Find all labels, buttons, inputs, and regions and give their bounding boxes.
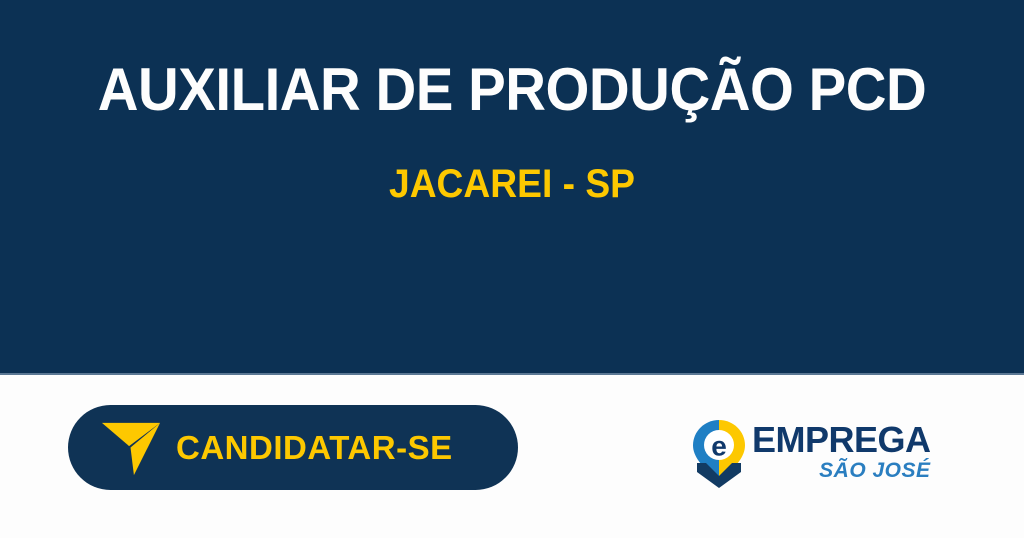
map-pin-e-icon: e (692, 419, 746, 489)
paper-plane-icon (100, 417, 162, 479)
svg-text:e: e (711, 431, 727, 462)
job-title: AUXILIAR DE PRODUÇÃO PCD (31, 57, 994, 123)
hero-banner: AUXILIAR DE PRODUÇÃO PCD JACAREI - SP (0, 0, 1024, 375)
brand-wordmark: EMPREGA SÃO JOSÉ (752, 419, 931, 483)
job-location: JACAREI - SP (36, 160, 988, 208)
job-vacancy-card: AUXILIAR DE PRODUÇÃO PCD JACAREI - SP CA… (0, 0, 1024, 538)
apply-button-label: CANDIDATAR-SE (176, 431, 453, 464)
apply-button[interactable]: CANDIDATAR-SE (68, 405, 518, 490)
brand-name: EMPREGA (752, 422, 931, 458)
brand-city: SÃO JOSÉ (819, 459, 930, 483)
brand-logo: e EMPREGA SÃO JOSÉ (692, 419, 922, 491)
